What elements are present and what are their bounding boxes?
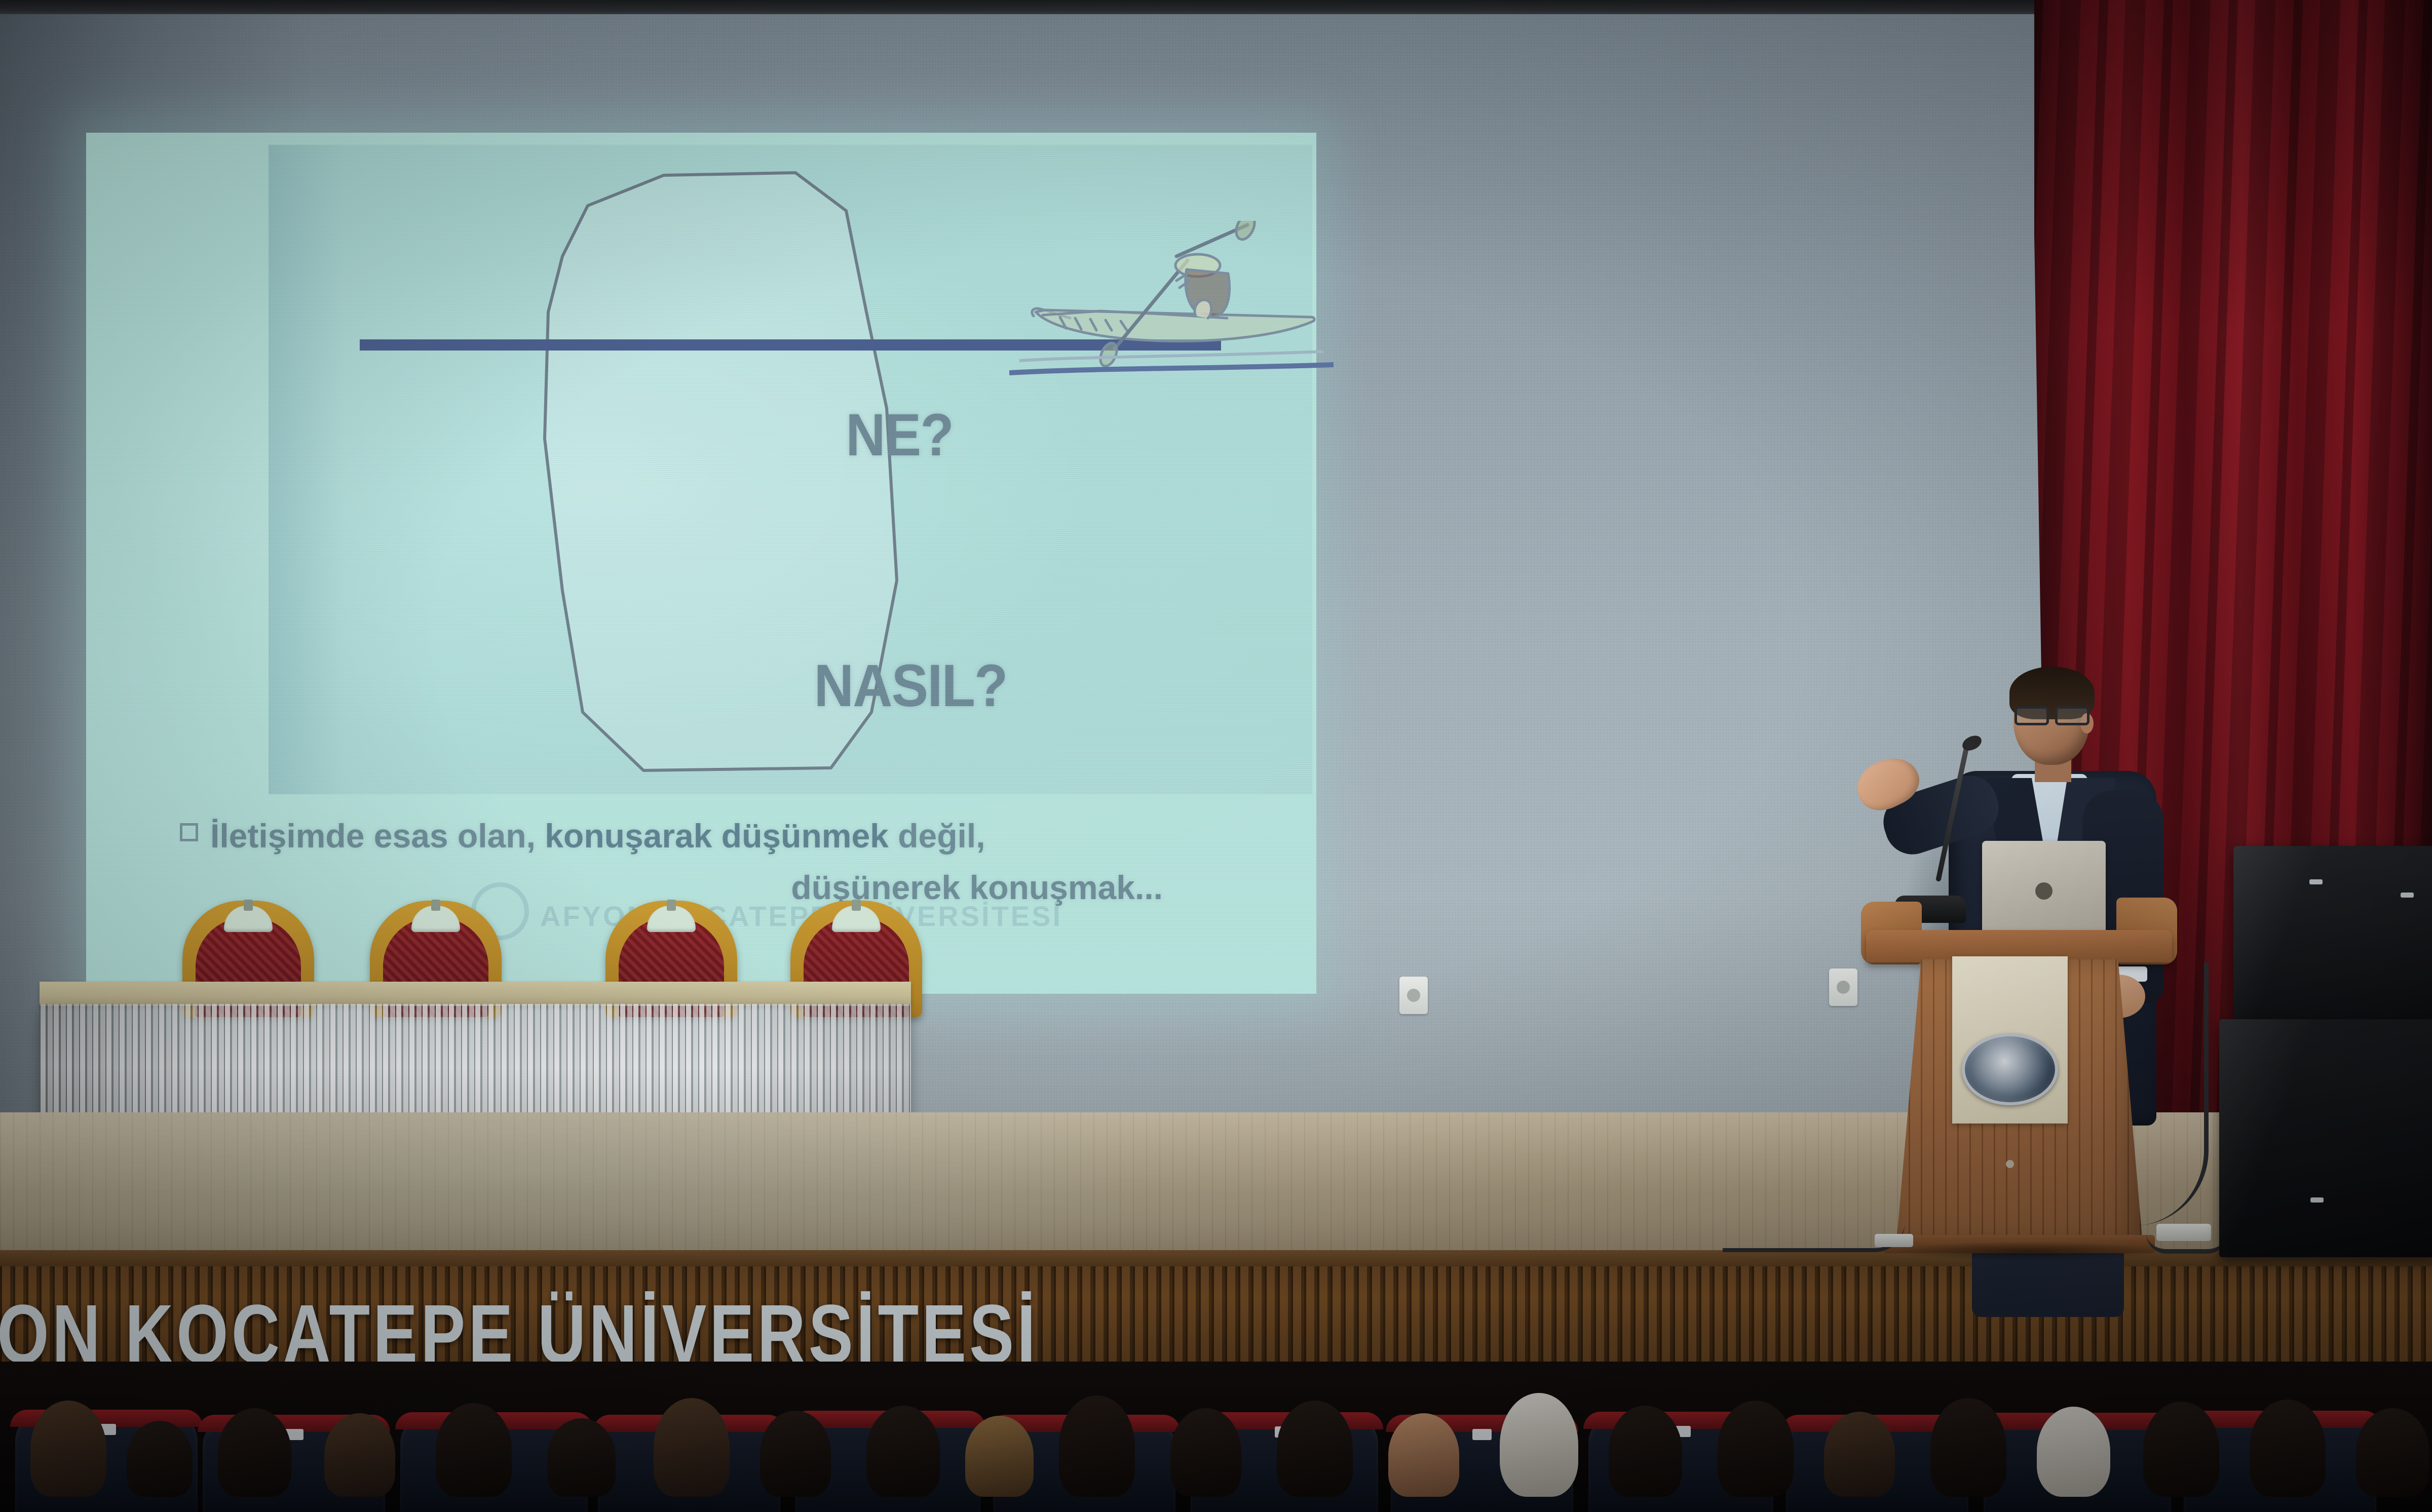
floor-power-adapter bbox=[1875, 1234, 1913, 1247]
pa-speaker-upper bbox=[2233, 846, 2432, 1023]
audience-member-head bbox=[2143, 1402, 2219, 1497]
floor-power-adapter bbox=[2156, 1224, 2211, 1241]
pa-led-indicator bbox=[2310, 1197, 2324, 1203]
audience-member-head bbox=[30, 1401, 106, 1497]
podium-screw bbox=[2006, 1160, 2014, 1168]
audience-member-head bbox=[866, 1406, 940, 1497]
audience-member-head bbox=[1824, 1412, 1895, 1497]
podium-plaque bbox=[1952, 956, 2068, 1123]
audience-member-head bbox=[2250, 1400, 2326, 1497]
glasses-icon bbox=[2015, 706, 2089, 721]
audience-member-head bbox=[1930, 1398, 2006, 1497]
pa-led-indicator bbox=[2309, 879, 2323, 884]
audience-member-head bbox=[324, 1413, 395, 1497]
audience-member-head bbox=[127, 1421, 193, 1497]
audience-member-head bbox=[1170, 1408, 1241, 1497]
projection-screen: NE? NASIL? İletişimde esas olan, konuşar… bbox=[86, 133, 1316, 994]
podium bbox=[1872, 930, 2166, 1254]
power-cable bbox=[2133, 962, 2209, 1226]
audience-member-head bbox=[1277, 1401, 1353, 1497]
university-seal-icon bbox=[1962, 1033, 2058, 1105]
audience-area bbox=[0, 1362, 2432, 1512]
audience-member-head bbox=[436, 1403, 512, 1497]
audience-member-head bbox=[965, 1416, 1034, 1497]
pa-led-indicator bbox=[2401, 893, 2414, 898]
audience-member-head bbox=[1718, 1401, 1794, 1497]
audience-member-head bbox=[1609, 1406, 1682, 1497]
audience-member-head bbox=[218, 1408, 291, 1497]
seat-number-plate bbox=[1472, 1429, 1492, 1440]
pa-speaker-lower bbox=[2219, 1019, 2432, 1257]
laptop bbox=[1982, 841, 2106, 936]
laptop-logo-icon bbox=[2035, 882, 2053, 900]
wall-outlet-icon bbox=[1399, 977, 1428, 1014]
pa-sheen bbox=[2233, 846, 2432, 1023]
audience-member-head bbox=[654, 1398, 730, 1497]
audience-member-head bbox=[760, 1411, 831, 1497]
pa-sheen bbox=[2219, 1019, 2432, 1257]
conference-hall-photo: NE? NASIL? İletişimde esas olan, konuşar… bbox=[0, 0, 2432, 1512]
audience-member-head bbox=[1500, 1393, 1578, 1497]
audience-member-head bbox=[1059, 1395, 1135, 1497]
audience-member-head bbox=[1388, 1413, 1459, 1497]
audience-member-head bbox=[2356, 1408, 2429, 1497]
projection-grain bbox=[86, 133, 1316, 994]
audience-member-head bbox=[547, 1418, 616, 1497]
table-top bbox=[40, 982, 911, 1006]
audience-member-head bbox=[2037, 1407, 2110, 1497]
